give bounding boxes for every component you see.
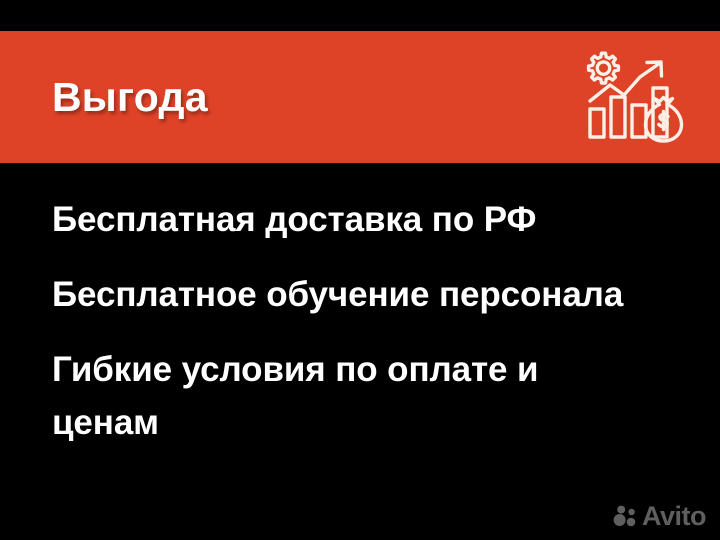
avito-watermark-label: Avito xyxy=(642,503,706,530)
benefits-list: Бесплатная доставка по РФ Бесплатное обу… xyxy=(52,193,664,449)
page-title: Выгода xyxy=(52,77,208,118)
avito-logo-icon xyxy=(612,504,638,530)
header-banner: Выгода xyxy=(0,31,720,163)
promo-slide: Выгода xyxy=(0,0,720,540)
benefit-item-delivery: Бесплатная доставка по РФ xyxy=(52,193,627,246)
money-bag-icon xyxy=(646,98,682,142)
benefit-item-payment-terms: Гибкие условия по оплате и ценам xyxy=(52,343,627,449)
benefit-item-training: Бесплатное обучение персонала xyxy=(52,268,627,321)
bar-chart-icon xyxy=(590,88,667,137)
avito-watermark: Avito xyxy=(612,503,706,530)
gear-icon xyxy=(589,53,619,83)
profit-growth-icon xyxy=(584,45,688,149)
